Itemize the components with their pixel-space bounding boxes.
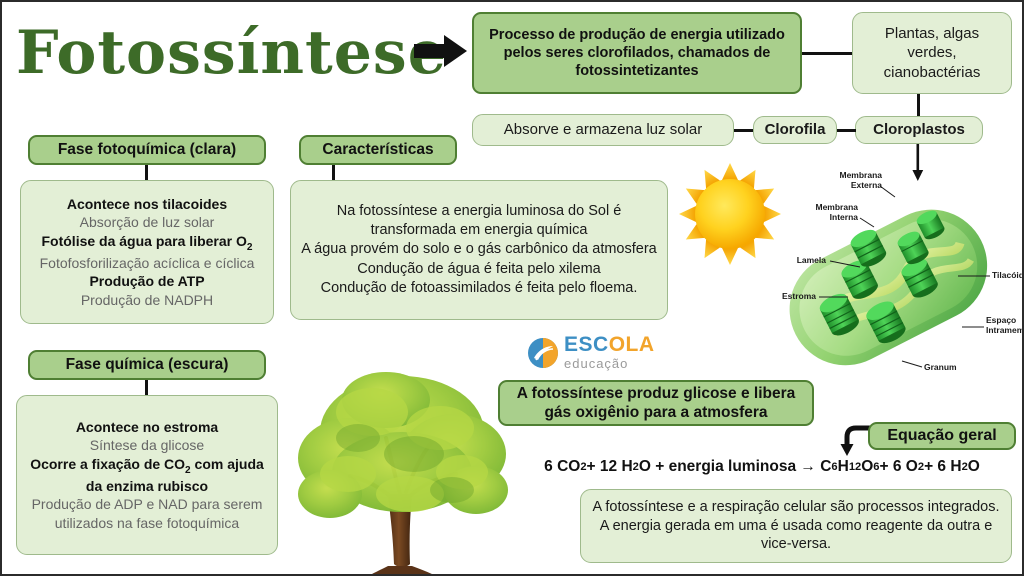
characteristic-line: Condução de fotoassimilados é feita pelo…	[299, 279, 659, 298]
logo-wordmark: ESCOLA	[564, 334, 655, 355]
photochemical-lines: Acontece nos tilacoides Absorção de luz …	[29, 195, 265, 309]
main-definition-box: Processo de produção de energia utilizad…	[472, 12, 802, 94]
connector-photochemical	[145, 165, 148, 180]
label-membrana-externa: MembranaExterna	[800, 171, 882, 191]
characteristic-line: Condução de água é feita pelo xilema	[299, 260, 659, 279]
phase-line: Síntese da glicose	[25, 436, 269, 454]
photochemical-phase-body: Acontece nos tilacoides Absorção de luz …	[20, 180, 274, 324]
phase-line: Acontece nos tilacoides	[29, 195, 265, 213]
tree-illustration	[294, 354, 512, 576]
label-granum: Granum	[924, 363, 957, 373]
connector-chlorophyll-chloroplasts	[836, 129, 856, 132]
label-membrana-interna: MembranaInterna	[776, 203, 858, 223]
produces-box: A fotossíntese produz glicose e libera g…	[498, 380, 814, 426]
organisms-box: Plantas, algas verdes, cianobactérias	[852, 12, 1012, 94]
logo-escola-orange: OLA	[609, 333, 655, 356]
connector-definition-organisms	[802, 52, 852, 55]
phase-line: Produção de ATP	[29, 272, 265, 290]
connector-organisms-chloroplasts	[917, 94, 920, 116]
escola-educacao-logo: ESCOLA educação	[527, 334, 677, 374]
infographic-canvas: Fotossíntese Processo de produção de ene…	[0, 0, 1024, 576]
connector-absorbs-chlorophyll	[733, 129, 753, 132]
chloroplasts-box: Cloroplastos	[855, 116, 983, 144]
photochemical-phase-header: Fase fotoquímica (clara)	[28, 135, 266, 165]
connector-characteristics	[332, 165, 335, 180]
logo-mark-icon	[527, 337, 559, 369]
logo-subtitle: educação	[564, 356, 655, 371]
general-equation: 6 CO2 + 12 H2O + energia luminosa → C6H1…	[502, 452, 1022, 482]
conclusion-box: A fotossíntese e a respiração celular sã…	[580, 489, 1012, 563]
label-espaco-intramembranar: EspaçoIntramembranar	[986, 316, 1024, 336]
characteristics-header: Características	[299, 135, 457, 165]
page-title: Fotossíntese	[16, 10, 406, 96]
chloroplast-diagram: MembranaExterna MembranaInterna Lamela E…	[762, 177, 1012, 392]
phase-line: Produção de NADPH	[29, 291, 265, 309]
characteristic-line: A água provém do solo e o gás carbônico …	[299, 240, 659, 259]
chemical-lines: Acontece no estroma Síntese da glicose O…	[25, 418, 269, 532]
chemical-phase-header: Fase química (escura)	[28, 350, 266, 380]
phase-line: Fotólise da água para liberar O2	[29, 232, 265, 254]
absorbs-box: Absorve e armazena luz solar	[472, 114, 734, 146]
characteristics-body: Na fotossíntese a energia luminosa do So…	[290, 180, 668, 320]
right-arrow-icon	[414, 34, 468, 68]
phase-line: Produção de ADP e NAD para serem utiliza…	[25, 495, 269, 532]
chemical-phase-body: Acontece no estroma Síntese da glicose O…	[16, 395, 278, 555]
label-estroma: Estroma	[766, 292, 816, 302]
chlorophyll-box: Clorofila	[753, 116, 837, 144]
characteristic-line: Na fotossíntese a energia luminosa do So…	[299, 202, 659, 240]
equation-label-box: Equação geral	[868, 422, 1016, 450]
logo-escola-blue: ESC	[564, 333, 609, 356]
label-tilacoides: Tilacóides	[992, 271, 1024, 281]
label-lamela: Lamela	[780, 256, 826, 266]
connector-chemical	[145, 380, 148, 395]
phase-line: Absorção de luz solar	[29, 213, 265, 231]
phase-line: Fotofosforilização acíclica e cíclica	[29, 254, 265, 272]
phase-line: Acontece no estroma	[25, 418, 269, 436]
characteristics-lines: Na fotossíntese a energia luminosa do So…	[299, 202, 659, 298]
phase-line: Ocorre a fixação de CO2 com ajuda da enz…	[25, 455, 269, 496]
